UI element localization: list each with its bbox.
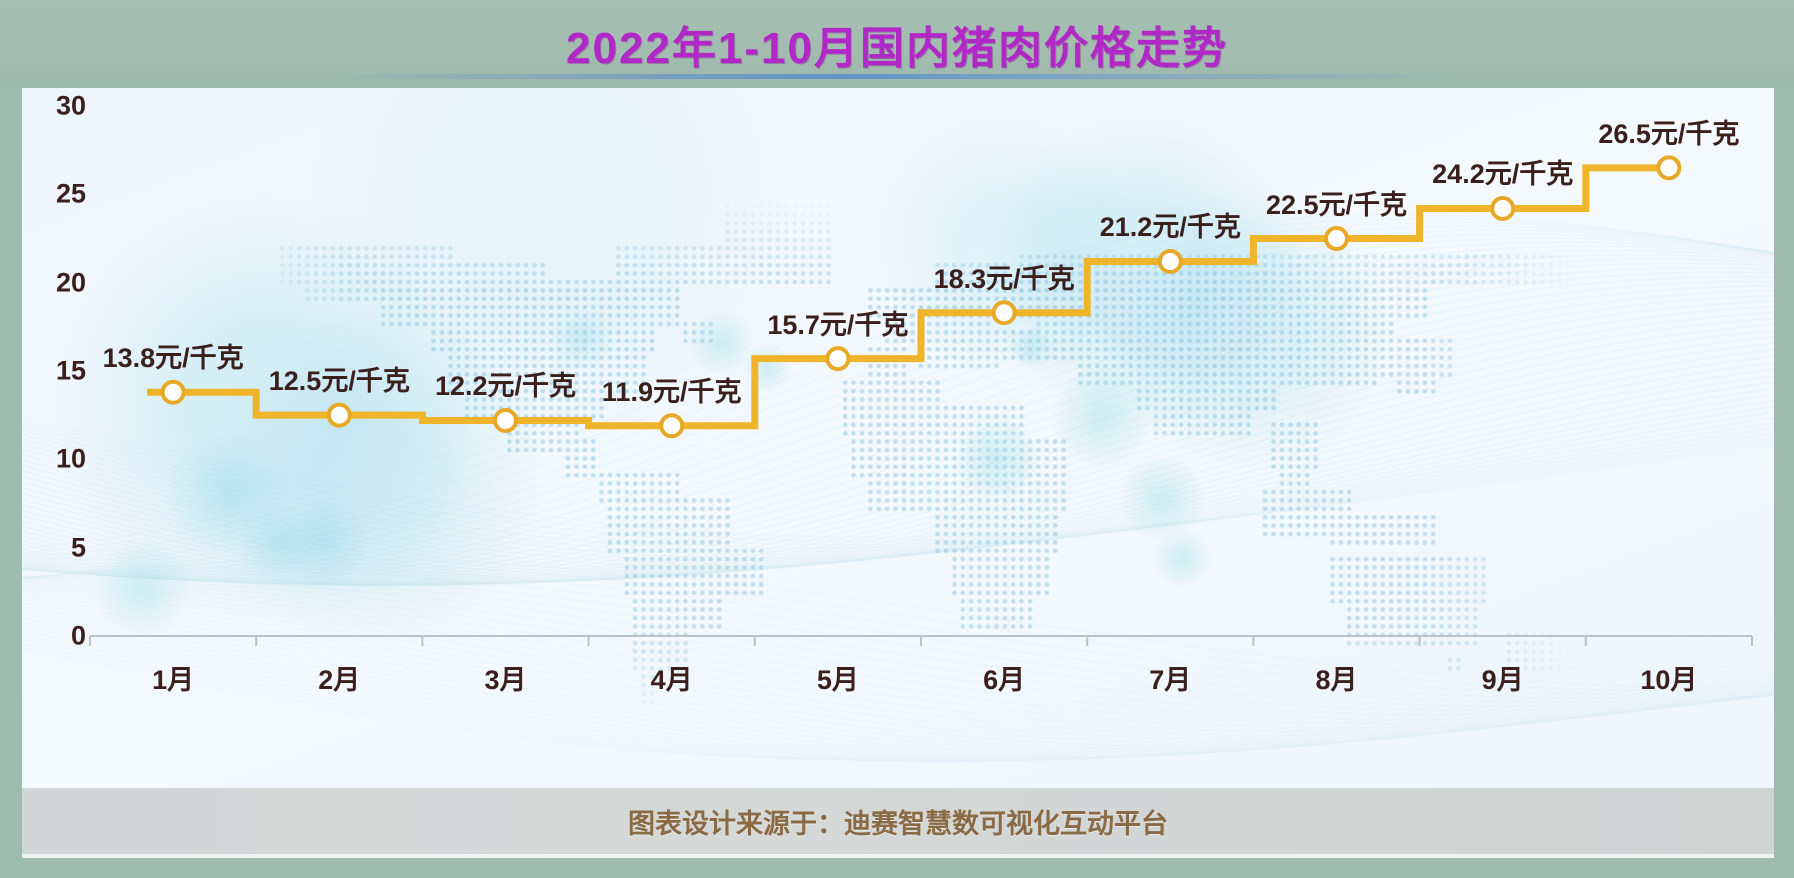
footer-band: 图表设计来源于：迪赛智慧数可视化互动平台: [22, 788, 1774, 854]
chart-card: 0510152025301月2月3月4月5月6月7月8月9月10月13.8元/千…: [22, 88, 1774, 788]
data-point-marker[interactable]: [827, 348, 848, 369]
data-point-marker[interactable]: [1160, 251, 1181, 272]
data-point-marker[interactable]: [163, 382, 184, 403]
data-point-marker[interactable]: [1492, 198, 1513, 219]
price-step-line: [147, 168, 1669, 426]
footer-source-text: 图表设计来源于：迪赛智慧数可视化互动平台: [628, 802, 1168, 841]
page-title: 2022年1-10月国内猪肉价格走势: [566, 12, 1228, 76]
data-point-marker[interactable]: [994, 302, 1015, 323]
data-point-marker[interactable]: [1326, 228, 1347, 249]
data-point-marker[interactable]: [329, 405, 350, 426]
footer-bottom-edge: [22, 854, 1774, 858]
line-chart-plot: [22, 88, 1774, 788]
chart-page: 2022年1-10月国内猪肉价格走势 0510152025301月2月3月4月5…: [0, 0, 1794, 878]
data-point-marker[interactable]: [495, 410, 516, 431]
title-underline-decoration: [330, 74, 1460, 79]
data-point-marker[interactable]: [661, 415, 682, 436]
data-point-marker[interactable]: [1658, 157, 1679, 178]
